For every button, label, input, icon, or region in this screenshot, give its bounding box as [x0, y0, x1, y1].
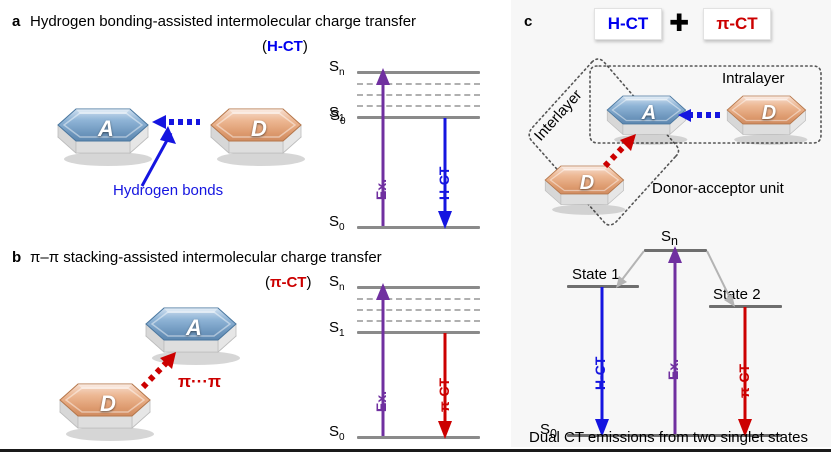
- panel-a-energy-diagram: S0 Sn S1: [330, 52, 505, 237]
- panel-c-state2-label: State 2: [713, 286, 761, 303]
- panel-a-S1-text: S1: [329, 104, 345, 124]
- panel-b-subtitle-close: ): [306, 274, 311, 291]
- panel-c-hct-label: H-CT: [592, 357, 608, 390]
- panel-b-vib-line-2: [357, 309, 480, 311]
- panel-c-level-Sn-line: [644, 249, 707, 252]
- panel-b-S1-text: S1: [329, 319, 345, 339]
- panel-a-excitation-label: Ex.: [373, 179, 389, 200]
- bottom-divider: [0, 449, 831, 452]
- panel-a-level-Sn-line: [357, 71, 480, 74]
- panel-a-acceptor-hexagon: A: [52, 97, 160, 169]
- panel-c-unit-label: Donor-acceptor unit: [652, 180, 784, 197]
- panel-a-level-S1-line: [357, 116, 480, 119]
- panel-c-pict-label: π-CT: [736, 364, 752, 398]
- panel-a-vib-line-1: [357, 83, 480, 85]
- panel-b-S0-text: S0: [329, 423, 345, 443]
- panel-c-donor-right-hexagon: D: [722, 85, 816, 149]
- panel-b-interaction-label: π···π: [178, 372, 221, 392]
- panel-b-Sn-text: Sn: [329, 273, 345, 293]
- panel-a-title: Hydrogen bonding-assisted intermolecular…: [30, 13, 416, 30]
- panel-c-level-state1-line: [567, 285, 639, 288]
- panel-b-subtitle: (π-CT): [265, 274, 311, 291]
- panel-a-S0-text: S0: [329, 213, 345, 233]
- panel-b-donor-hexagon: D: [54, 372, 162, 444]
- panel-a-subtitle-key: H-CT: [267, 38, 303, 55]
- panel-a-vib-line-2: [357, 94, 480, 96]
- panel-b-level-S1-line: [357, 331, 480, 334]
- panel-b-letter: b: [12, 250, 21, 265]
- panel-b-level-S0-line: [357, 436, 480, 439]
- panel-c-chip-pict[interactable]: π-CT: [703, 8, 771, 40]
- panel-b-level-Sn-line: [357, 286, 480, 289]
- panel-b-pict-label: π-CT: [436, 378, 452, 412]
- panel-c-donor-lower-hexagon: D: [540, 155, 634, 219]
- panel-a-letter: a: [12, 14, 20, 29]
- panel-c-caption: Dual CT emissions from two singlet state…: [529, 429, 808, 446]
- panel-c-plus-icon: ✚: [669, 12, 689, 36]
- panel-a-hct-label: H-CT: [436, 167, 452, 200]
- panel-b-excitation-label: Ex.: [373, 391, 389, 412]
- panel-c-state1-label: State 1: [572, 266, 620, 283]
- panel-a-subtitle-close: ): [303, 38, 308, 55]
- panel-a-Sn-text: Sn: [329, 58, 345, 78]
- panel-a-level-S0-line: [357, 226, 480, 229]
- panel-c-level-state2-line: [709, 305, 782, 308]
- panel-c-excitation-label: Ex.: [665, 359, 681, 380]
- panel-b-vib-line-3: [357, 320, 480, 322]
- panel-b-title: π–π stacking-assisted intermolecular cha…: [30, 249, 382, 266]
- panel-c-Sn-text: Sn: [661, 228, 678, 248]
- panel-c-chip-hct[interactable]: H-CT: [594, 8, 662, 40]
- panel-b-subtitle-key: π-CT: [270, 274, 306, 291]
- panel-a-interaction-label: Hydrogen bonds: [113, 182, 223, 199]
- panel-a-subtitle: (H-CT): [262, 38, 308, 55]
- panel-a-vib-line-3: [357, 105, 480, 107]
- panel-c-acceptor-hexagon: A: [602, 85, 696, 149]
- panel-a-donor-hexagon: D: [205, 97, 313, 169]
- panel-c-letter: c: [524, 14, 532, 29]
- panel-b-vib-line-1: [357, 298, 480, 300]
- panel-b-acceptor-hexagon: A: [140, 296, 248, 368]
